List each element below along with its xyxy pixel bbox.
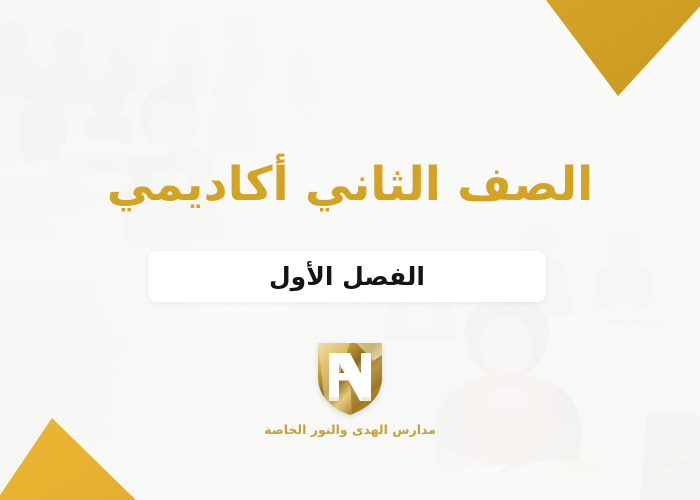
semester-label: الفصل الأول (269, 264, 425, 289)
course-cover-card: الصف الثاني أكاديمي الفصل الأول (0, 0, 700, 500)
school-branding: مدارس الهدى والنور الخاصة (0, 337, 700, 437)
school-logo (312, 337, 388, 417)
semester-plate: الفصل الأول (148, 251, 546, 302)
gold-corner-triangle-top-right-icon (546, 0, 700, 96)
shield-monogram-icon (312, 337, 388, 417)
school-name-label: مدارس الهدى والنور الخاصة (264, 422, 436, 437)
page-title: الصف الثاني أكاديمي (0, 160, 700, 210)
